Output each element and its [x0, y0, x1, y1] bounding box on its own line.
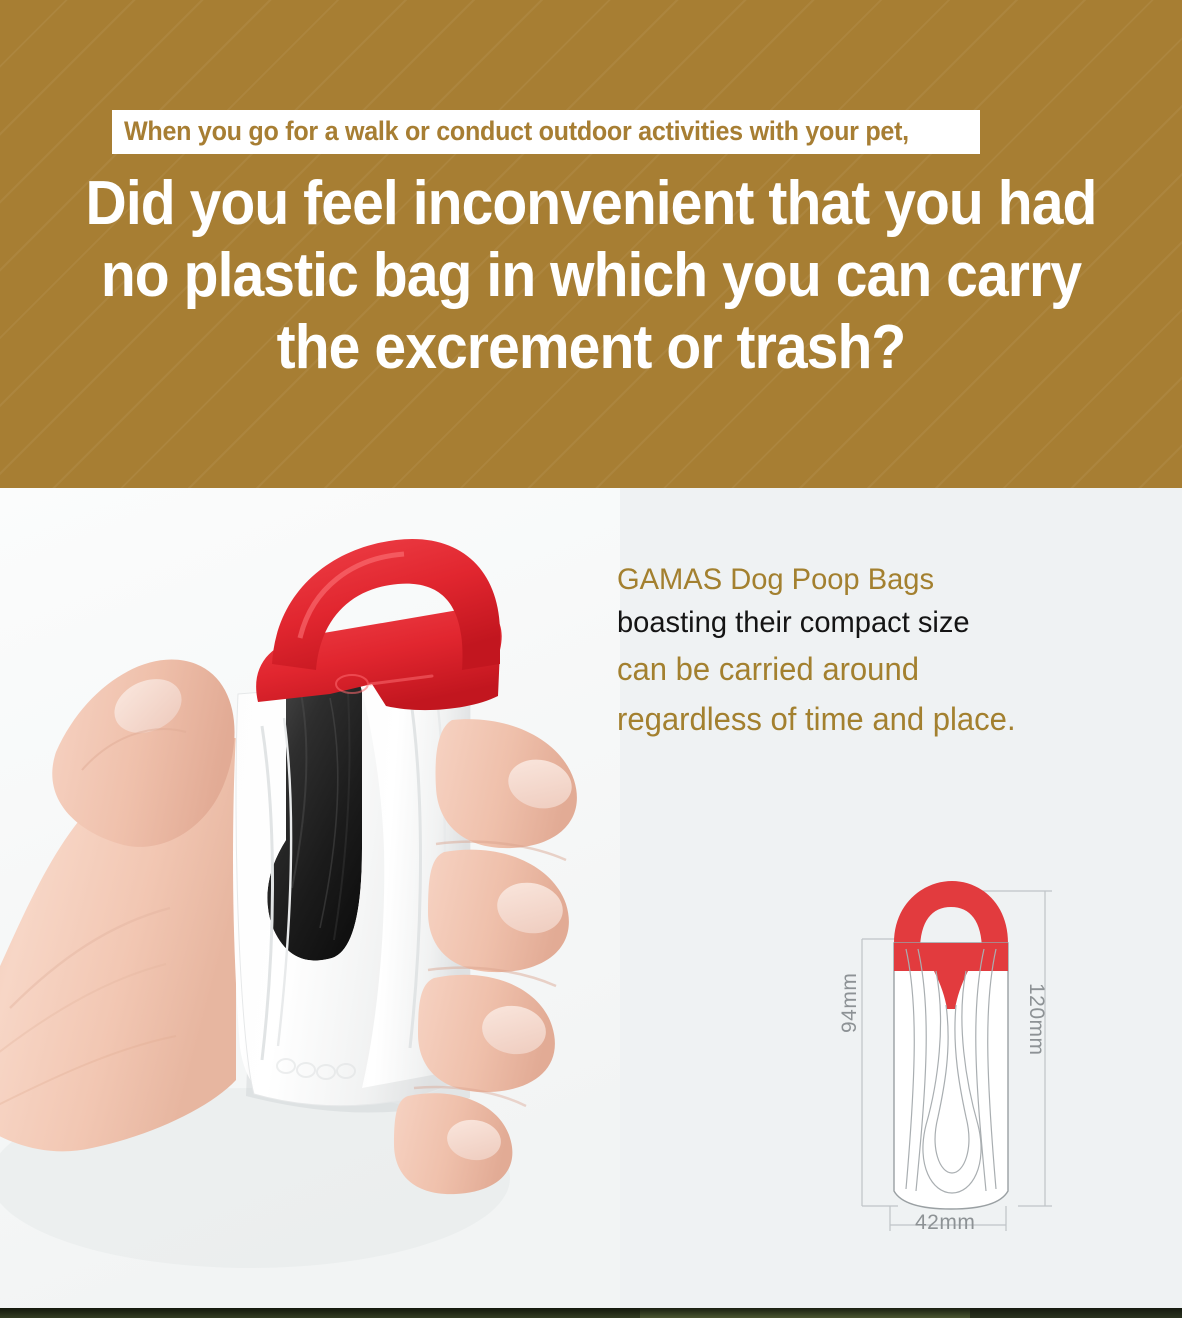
hero-banner: When you go for a walk or conduct outdoo… — [0, 0, 1182, 488]
headline-line-1: Did you feel inconvenient that you had — [47, 168, 1134, 240]
copy-line-1: GAMAS Dog Poop Bags — [617, 558, 1141, 602]
eyebrow-text: When you go for a walk or conduct outdoo… — [124, 115, 909, 147]
strip-segment-right — [970, 1308, 1182, 1318]
copy-line-4: regardless of time and place. — [617, 694, 1141, 744]
eyebrow-band: When you go for a walk or conduct outdoo… — [112, 110, 980, 154]
next-section-preview-strip — [0, 1308, 1182, 1318]
product-section: GAMAS Dog Poop Bags boasting their compa… — [0, 488, 1182, 1308]
dimension-label-height-total: 120mm — [1024, 983, 1048, 1056]
product-copy: GAMAS Dog Poop Bags boasting their compa… — [617, 558, 1157, 744]
strip-segment-mid — [640, 1308, 970, 1318]
dimension-label-height-inner: 94mm — [838, 973, 862, 1033]
dimension-label-width: 42mm — [915, 1211, 975, 1235]
hand-holding-dispenser-illustration — [0, 488, 620, 1308]
strip-segment-left — [0, 1308, 640, 1318]
page-title: Did you feel inconvenient that you had n… — [0, 168, 1182, 384]
copy-line-2: boasting their compact size — [617, 602, 1141, 644]
headline-line-2: no plastic bag in which you can carry — [47, 240, 1134, 312]
product-photo — [0, 488, 620, 1308]
headline-line-3: the excrement or trash? — [47, 312, 1134, 384]
product-detail-page: When you go for a walk or conduct outdoo… — [0, 0, 1182, 1318]
product-outline — [894, 881, 1008, 1209]
dimension-diagram: 94mm 120mm 42mm — [820, 873, 1120, 1273]
copy-line-3: can be carried around — [617, 644, 1141, 694]
